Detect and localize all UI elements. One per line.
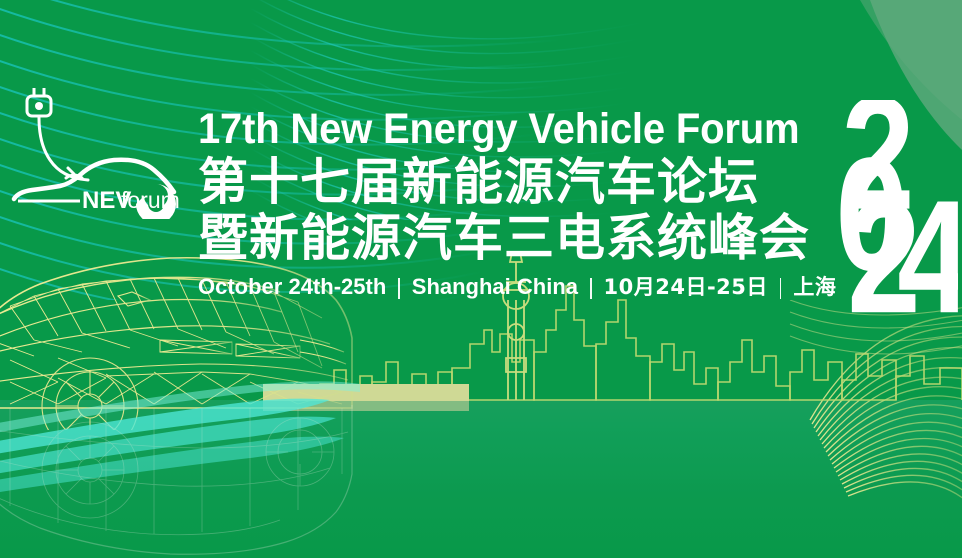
date-chinese: 10月24日-25日 <box>604 274 768 300</box>
location-english: Shanghai China <box>412 274 578 300</box>
dateline-separator-2 <box>590 278 592 299</box>
nevforum-logo[interactable]: NEV forum <box>8 74 198 219</box>
year-2024: 2 0 2 4 <box>838 100 958 315</box>
title-chinese-line1: 第十七届新能源汽车论坛 <box>198 154 848 210</box>
water-reflection-band <box>0 400 962 558</box>
title-english: 17th New Energy Vehicle Forum <box>198 104 803 154</box>
dateline-separator-1 <box>398 278 400 299</box>
logo-text-light: forum <box>121 187 180 213</box>
dateline-separator-3 <box>780 278 782 299</box>
date-english: October 24th-25th <box>198 274 386 300</box>
charging-plug-icon <box>27 88 51 116</box>
title-chinese-line2: 暨新能源汽车三电系统峰会 <box>198 210 848 266</box>
location-chinese: 上海 <box>793 274 836 300</box>
event-dateline: October 24th-25th Shanghai China 10月24日-… <box>198 274 848 300</box>
title-block: 17th New Energy Vehicle Forum 第十七届新能源汽车论… <box>198 104 848 300</box>
year-digit-bottom-right: 4 <box>897 168 958 315</box>
event-poster: NEV forum 17th New Energy Vehicle Forum … <box>0 0 962 558</box>
